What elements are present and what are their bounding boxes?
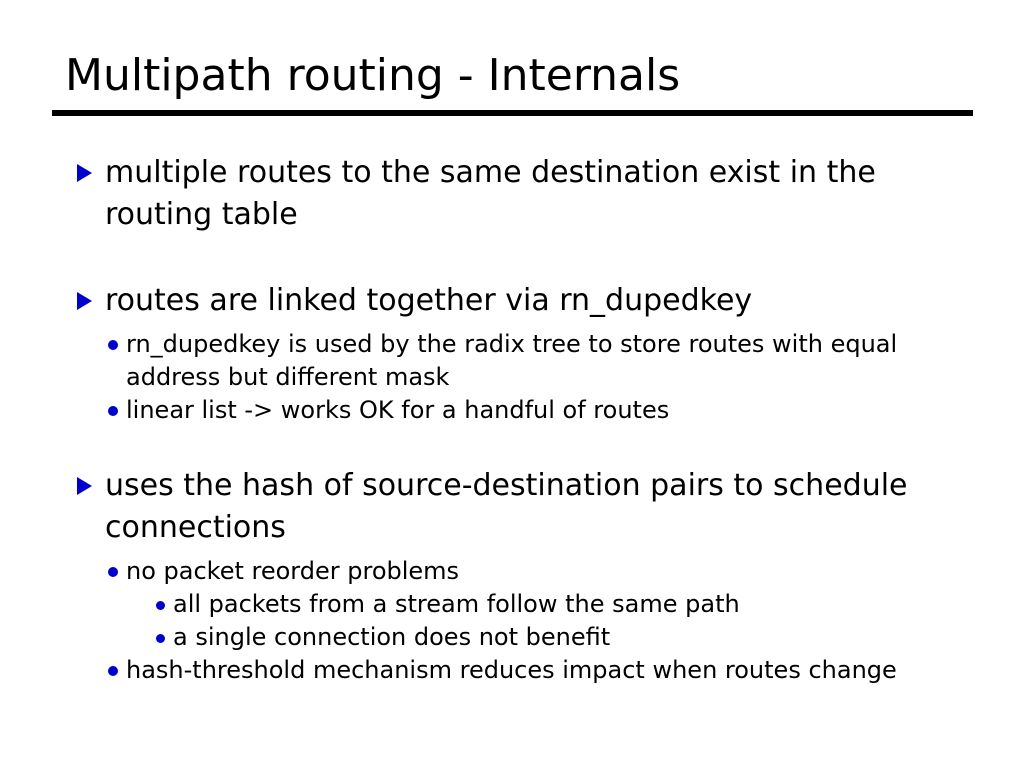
- blue-dot-bullet-icon: [108, 567, 118, 577]
- bullet-text: multiple routes to the same destination …: [105, 155, 876, 232]
- blue-dot-bullet-icon: [108, 666, 118, 676]
- bullet-item-level1: multiple routes to the same destination …: [0, 152, 1024, 236]
- page-title: Multipath routing - Internals: [52, 48, 973, 104]
- blue-dot-bullet-icon: [108, 340, 118, 350]
- bullet-text: uses the hash of source-destination pair…: [105, 468, 908, 545]
- blue-dot-bullet-icon: [156, 601, 165, 610]
- bullet-item-level1: routes are linked together via rn_dupedk…: [0, 280, 1024, 322]
- presentation-slide: Multipath routing - Internals multiple r…: [0, 0, 1024, 768]
- bullet-text: rn_dupedkey is used by the radix tree to…: [126, 330, 897, 391]
- bullet-item-level2: hash-threshold mechanism reduces impact …: [0, 654, 1024, 687]
- slide-title-block: Multipath routing - Internals: [52, 48, 973, 116]
- blue-dot-bullet-icon: [108, 406, 118, 416]
- spacer: [0, 427, 1024, 465]
- bullet-item-level1: uses the hash of source-destination pair…: [0, 465, 1024, 549]
- bullet-text: hash-threshold mechanism reduces impact …: [126, 656, 897, 684]
- bullet-item-level3: all packets from a stream follow the sam…: [0, 588, 1024, 621]
- bullet-text: a single connection does not benefit: [173, 623, 610, 651]
- title-underline-rule: [52, 110, 973, 116]
- bullet-item-level2: linear list -> works OK for a handful of…: [0, 394, 1024, 427]
- blue-dot-bullet-icon: [156, 634, 165, 643]
- spacer: [0, 236, 1024, 280]
- blue-triangle-bullet-icon: [77, 164, 92, 182]
- bullet-item-level3: a single connection does not benefit: [0, 621, 1024, 654]
- bullet-text: routes are linked together via rn_dupedk…: [105, 283, 752, 318]
- bullet-item-level2: no packet reorder problems: [0, 555, 1024, 588]
- bullet-text: no packet reorder problems: [126, 557, 459, 585]
- bullet-text: all packets from a stream follow the sam…: [173, 590, 740, 618]
- blue-triangle-bullet-icon: [77, 477, 92, 495]
- bullet-item-level2: rn_dupedkey is used by the radix tree to…: [0, 328, 1024, 394]
- bullet-text: linear list -> works OK for a handful of…: [126, 396, 669, 424]
- blue-triangle-bullet-icon: [77, 292, 92, 310]
- slide-body-outline: multiple routes to the same destination …: [0, 152, 1024, 687]
